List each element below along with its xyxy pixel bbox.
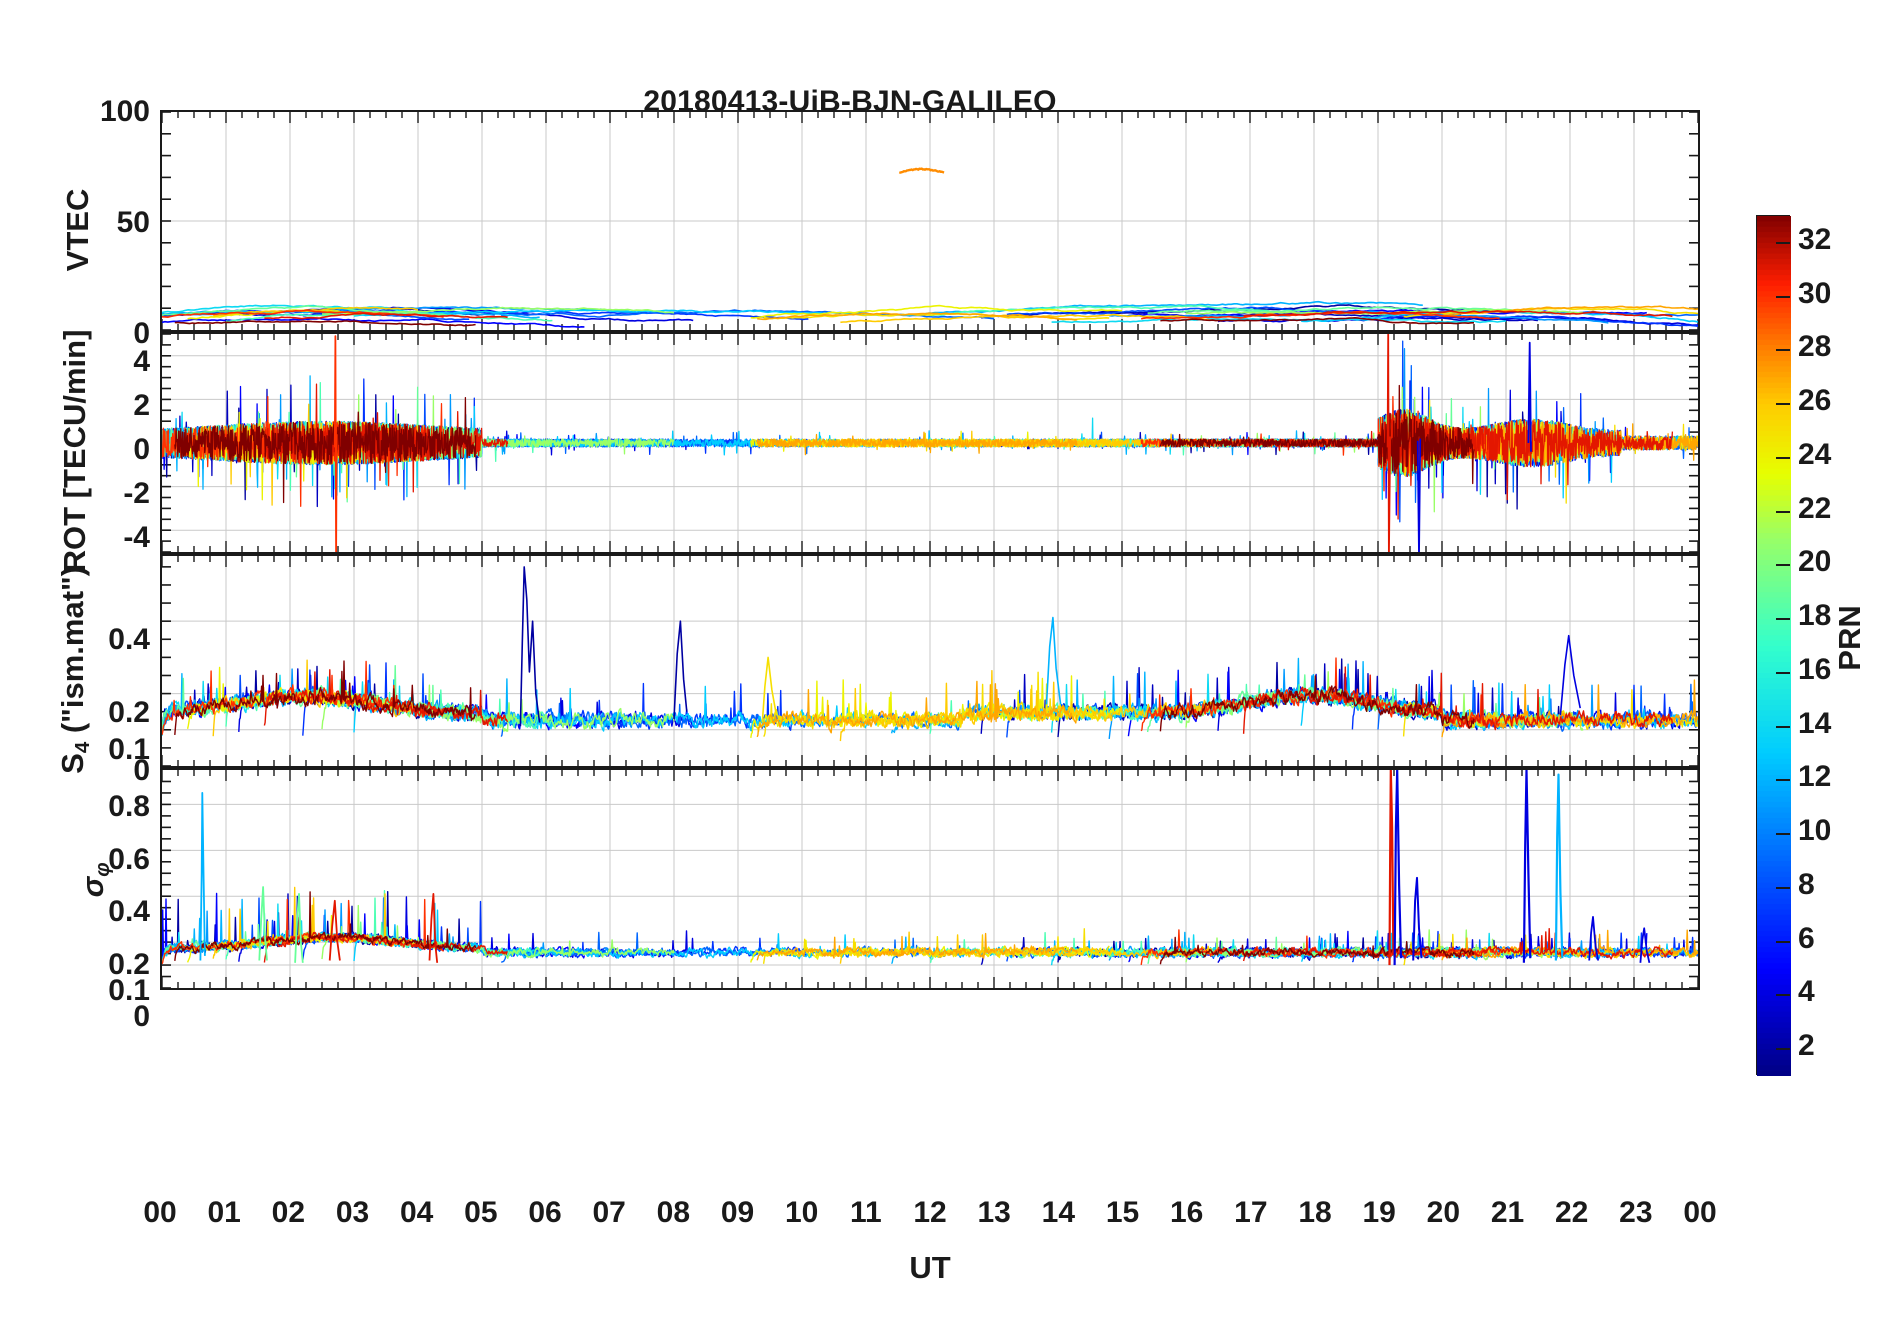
colorbar-tick-16: 16 <box>1798 653 1831 687</box>
colorbar-tick-30: 30 <box>1798 277 1831 311</box>
colorbar-tickmark <box>1776 833 1790 835</box>
colorbar-tick-2: 2 <box>1798 1029 1815 1063</box>
panel-sigma-phi <box>160 768 1700 990</box>
panel-rot-ytick-0: 0 <box>70 433 150 467</box>
colorbar-tickmark <box>1776 511 1790 513</box>
panel-s4-ytick-02: 0.2 <box>35 696 150 730</box>
colorbar-tick-18: 18 <box>1798 599 1831 633</box>
colorbar-tickmark <box>1776 457 1790 459</box>
panel-rot <box>160 332 1700 554</box>
colorbar-tick-24: 24 <box>1798 438 1831 472</box>
colorbar-tick-12: 12 <box>1798 760 1831 794</box>
colorbar-tickmark <box>1776 403 1790 405</box>
colorbar-tickmark <box>1776 349 1790 351</box>
colorbar-tickmark <box>1776 941 1790 943</box>
panel-vtec-ytick-100: 100 <box>70 95 150 129</box>
x-tick-24: 00 <box>1660 1196 1740 1230</box>
colorbar-tick-20: 20 <box>1798 545 1831 579</box>
colorbar-tickmark <box>1776 242 1790 244</box>
colorbar-tick-10: 10 <box>1798 814 1831 848</box>
panel-sphi-ytick-08: 0.8 <box>35 790 150 824</box>
panel-rot-ytick-neg2: -2 <box>70 477 150 511</box>
colorbar-tick-32: 32 <box>1798 223 1831 257</box>
panel-rot-ytick-4: 4 <box>70 345 150 379</box>
colorbar-tickmark <box>1776 994 1790 996</box>
colorbar-tickmark <box>1776 1048 1790 1050</box>
colorbar-label: PRN <box>1832 578 1868 698</box>
colorbar <box>1756 215 1790 1075</box>
figure-root: 20180413-UiB-BJN-GALILEO VTEC 100 50 0 R… <box>0 0 1902 1330</box>
colorbar-tickmark <box>1776 726 1790 728</box>
panel-sphi-ytick-0: 0 <box>35 1000 150 1034</box>
colorbar-tick-4: 4 <box>1798 975 1815 1009</box>
panel-rot-ytick-2: 2 <box>70 389 150 423</box>
colorbar-tick-14: 14 <box>1798 707 1831 741</box>
panel-sphi-ytick-06: 0.6 <box>35 843 150 877</box>
colorbar-tick-22: 22 <box>1798 492 1831 526</box>
colorbar-tick-6: 6 <box>1798 922 1815 956</box>
colorbar-tickmark <box>1776 779 1790 781</box>
panel-s4 <box>160 554 1700 768</box>
colorbar-tickmark <box>1776 887 1790 889</box>
panel-vtec <box>160 110 1700 332</box>
panel-s4-ytick-0: 0 <box>35 754 150 788</box>
colorbar-tick-26: 26 <box>1798 384 1831 418</box>
colorbar-tickmark <box>1776 618 1790 620</box>
colorbar-tick-28: 28 <box>1798 330 1831 364</box>
panel-vtec-ytick-50: 50 <box>70 206 150 240</box>
x-axis-label: UT <box>860 1250 1000 1286</box>
panel-s4-ytick-04: 0.4 <box>35 623 150 657</box>
colorbar-tickmark <box>1776 672 1790 674</box>
panel-sphi-ytick-04: 0.4 <box>35 895 150 929</box>
colorbar-tickmark <box>1776 296 1790 298</box>
colorbar-tickmark <box>1776 564 1790 566</box>
colorbar-tick-8: 8 <box>1798 868 1815 902</box>
